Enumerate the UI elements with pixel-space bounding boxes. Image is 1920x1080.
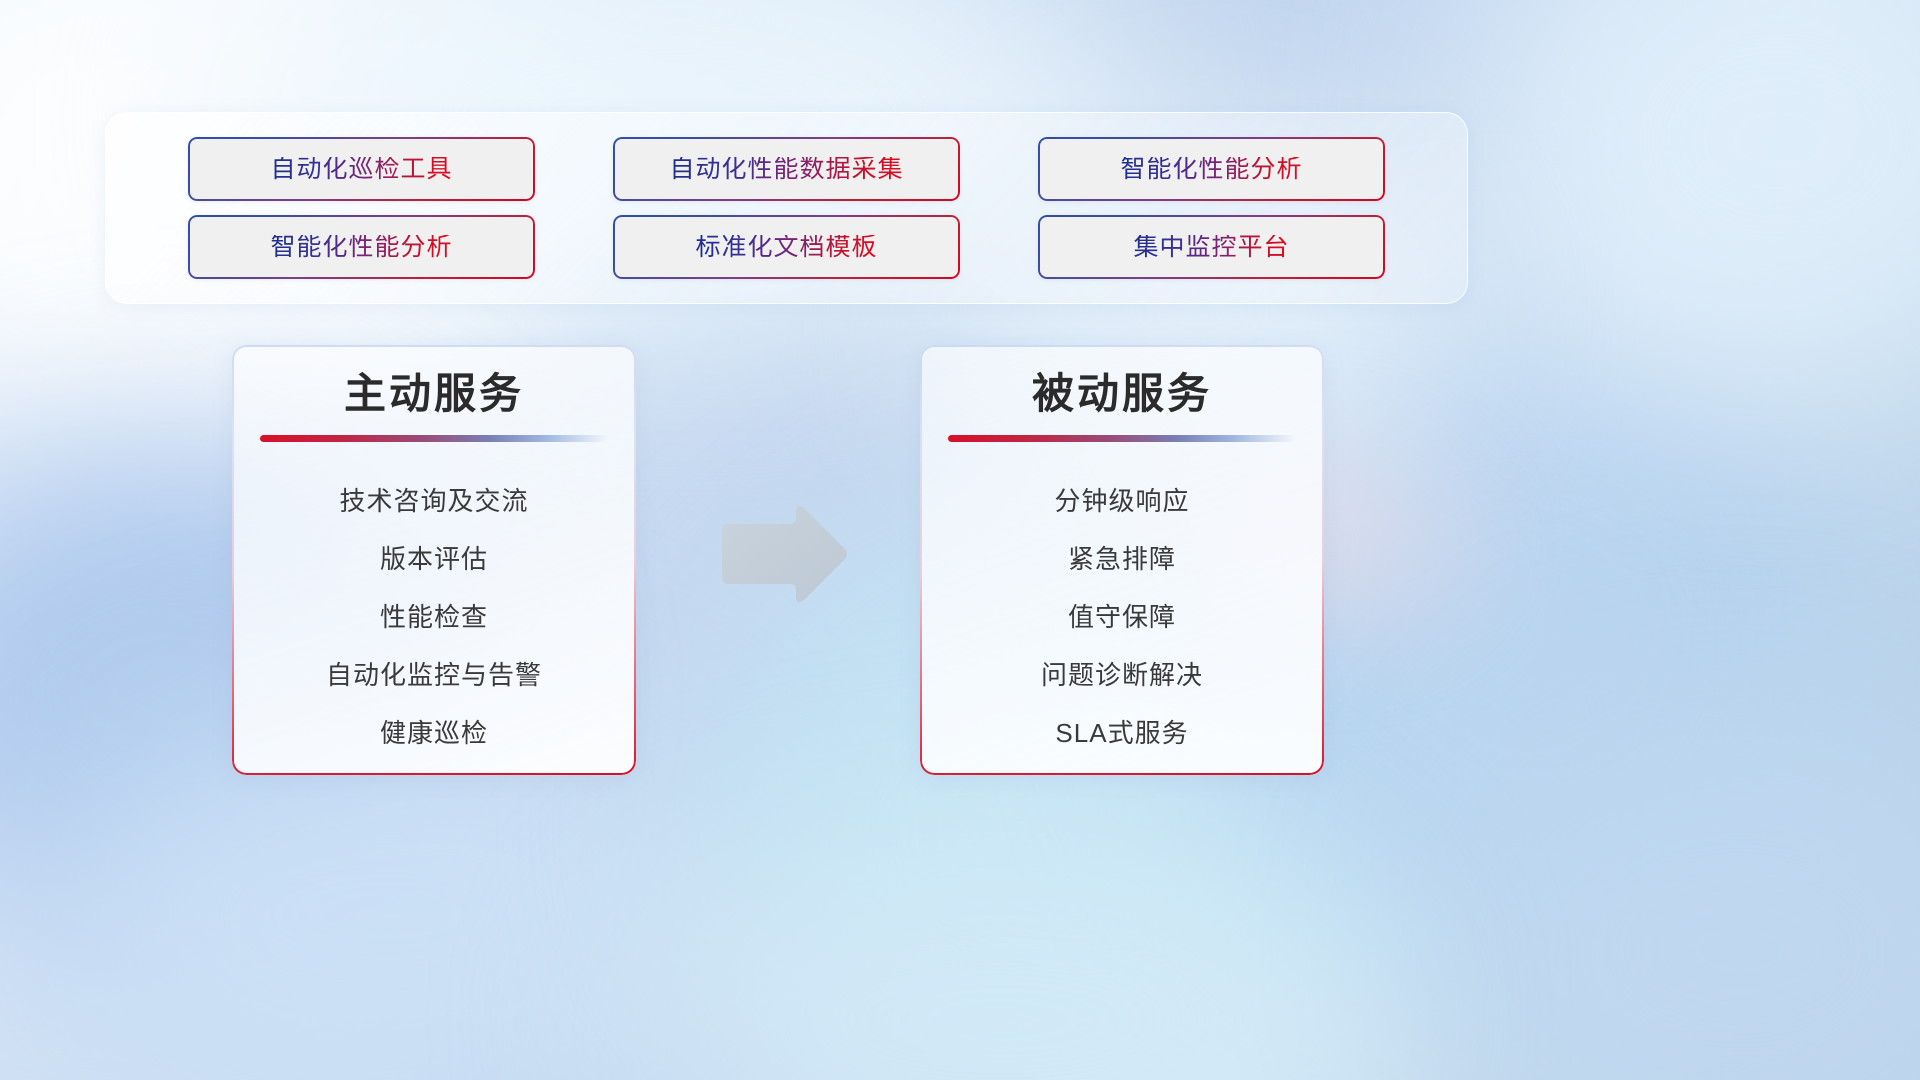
title-divider: [948, 435, 1296, 442]
tool-button-label: 智能化性能分析: [270, 235, 452, 260]
service-card-passive: 被动服务 分钟级响应 紧急排障 值守保障 问题诊断解决 SLA式服务: [920, 345, 1324, 775]
tool-button-label: 自动化性能数据采集: [669, 157, 903, 182]
tool-button-5[interactable]: 标准化文档模板: [613, 215, 960, 279]
service-list-item: 性能检查: [380, 588, 488, 646]
tool-button-label: 智能化性能分析: [1120, 157, 1302, 182]
tool-button-1[interactable]: 自动化巡检工具: [188, 137, 535, 201]
service-list-item: 技术咨询及交流: [339, 472, 528, 530]
tool-button-6[interactable]: 集中监控平台: [1038, 215, 1385, 279]
service-list-item: 紧急排障: [1068, 530, 1176, 588]
service-list-item: 版本评估: [380, 530, 488, 588]
right-arrow-icon: [716, 500, 852, 610]
service-card-active: 主动服务 技术咨询及交流 版本评估 性能检查 自动化监控与告警 健康巡检: [232, 345, 636, 775]
service-list-item: 健康巡检: [380, 704, 488, 762]
service-card-title: 被动服务: [920, 369, 1324, 419]
service-card-title: 主动服务: [232, 369, 636, 419]
service-item-list: 技术咨询及交流 版本评估 性能检查 自动化监控与告警 健康巡检: [232, 472, 636, 762]
tool-button-label: 自动化巡检工具: [270, 157, 452, 182]
tools-panel: 自动化巡检工具 自动化性能数据采集 智能化性能分析 智能化性能分析 标准化文档模…: [105, 112, 1468, 304]
service-list-item: 问题诊断解决: [1041, 646, 1203, 704]
tool-button-4[interactable]: 智能化性能分析: [188, 215, 535, 279]
tool-button-label: 集中监控平台: [1133, 235, 1289, 260]
service-list-item: SLA式服务: [1055, 704, 1188, 762]
service-list-item: 自动化监控与告警: [326, 646, 542, 704]
tool-button-label: 标准化文档模板: [695, 235, 877, 260]
service-list-item: 值守保障: [1068, 588, 1176, 646]
tool-button-2[interactable]: 自动化性能数据采集: [613, 137, 960, 201]
tools-grid: 自动化巡检工具 自动化性能数据采集 智能化性能分析 智能化性能分析 标准化文档模…: [106, 113, 1467, 303]
service-item-list: 分钟级响应 紧急排障 值守保障 问题诊断解决 SLA式服务: [920, 472, 1324, 762]
tool-button-3[interactable]: 智能化性能分析: [1038, 137, 1385, 201]
title-divider: [260, 435, 608, 442]
service-list-item: 分钟级响应: [1054, 472, 1189, 530]
